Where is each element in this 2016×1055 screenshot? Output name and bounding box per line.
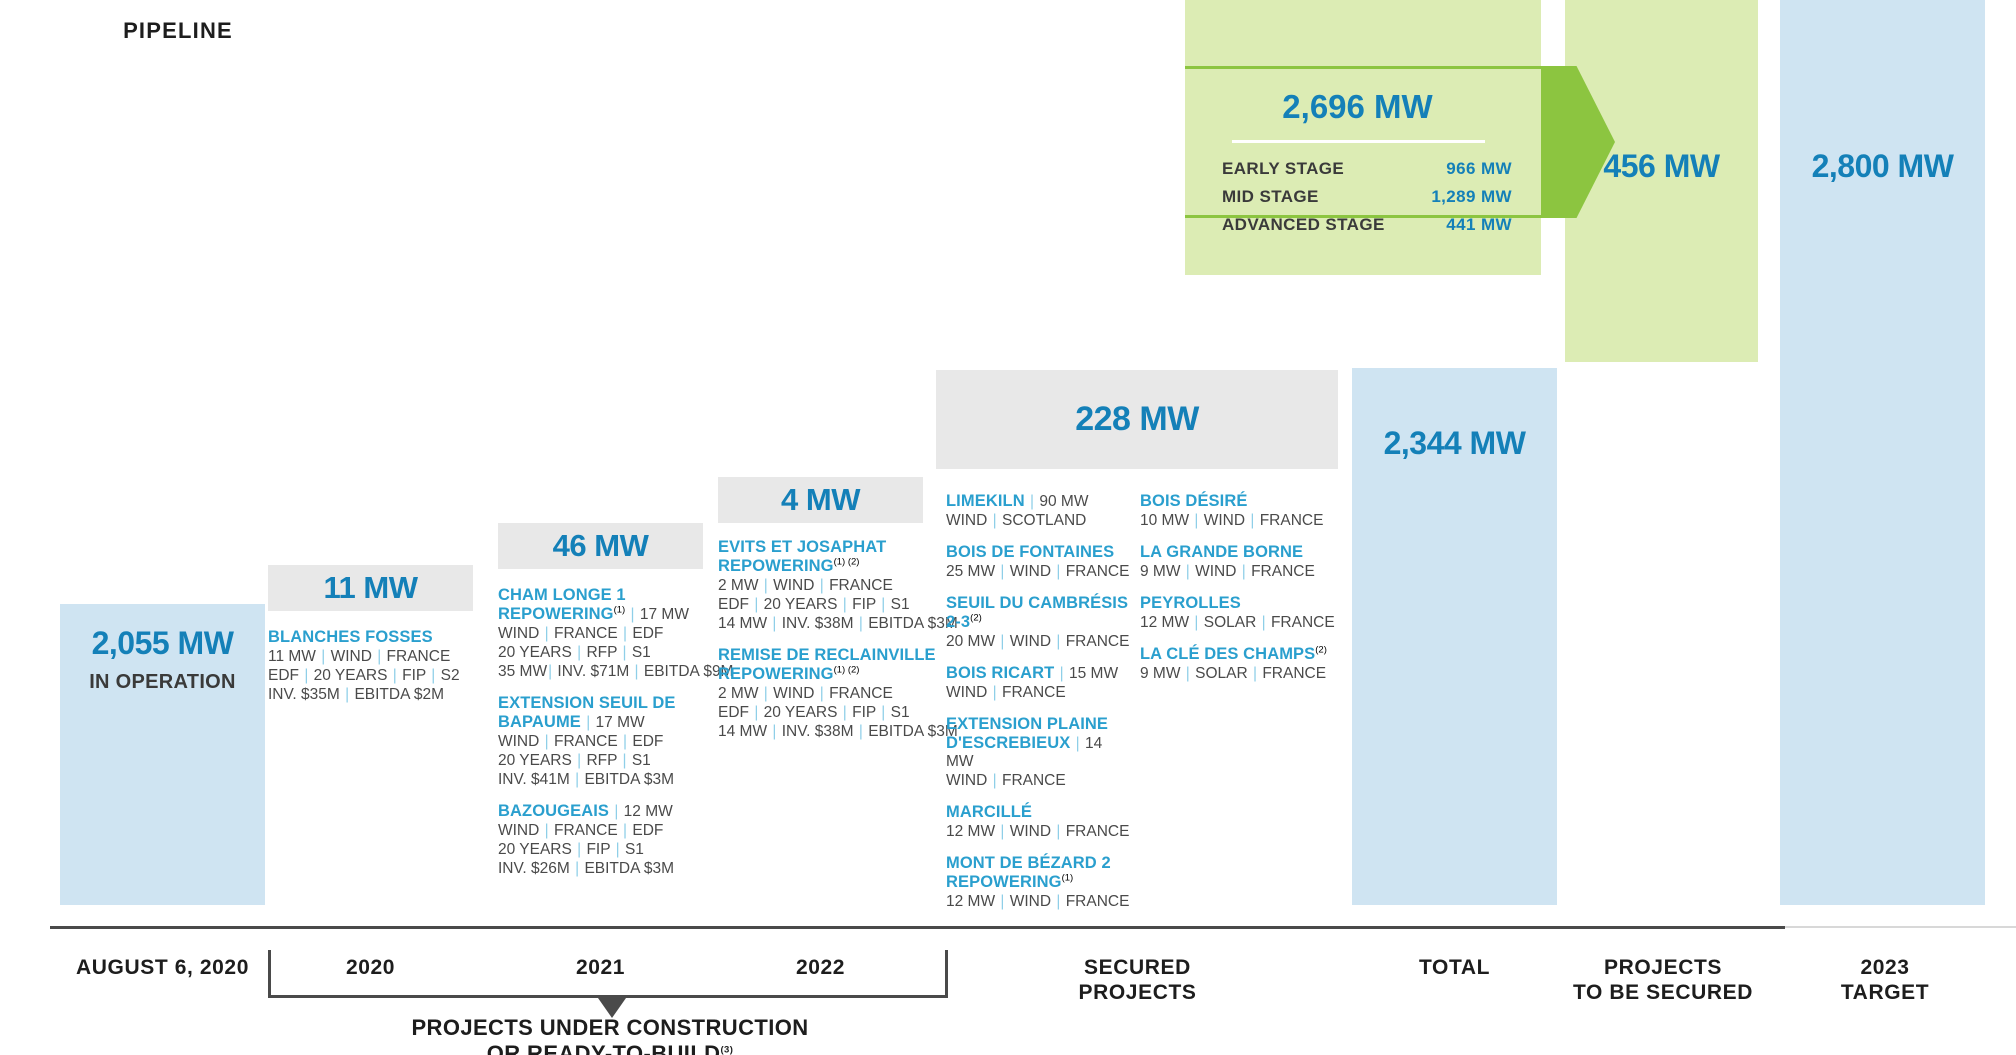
pipeline-label-mid-stage: MID STAGE <box>1222 187 1319 207</box>
project-entry: BAZOUGEAIS | 12 MWWIND | FRANCE | EDF20 … <box>498 802 710 878</box>
project-detail-line: 12 MW | WIND | FRANCE <box>946 822 1131 841</box>
project-name: BLANCHES FOSSES <box>268 628 433 646</box>
project-entry: BOIS RICART | 15 MWWIND | FRANCE <box>946 664 1131 702</box>
project-entry: MARCILLÉ12 MW | WIND | FRANCE <box>946 803 1131 841</box>
project-name: MARCILLÉ <box>946 803 1032 821</box>
project-title: PEYROLLES <box>1140 594 1335 613</box>
project-capacity: | 90 MW <box>1025 493 1089 510</box>
project-title: LA CLÉ DES CHAMPS(2) <box>1140 645 1335 664</box>
axis-label-target-line2: TARGET <box>1841 981 1929 1004</box>
project-title: MONT DE BÉZARD 2 REPOWERING(1) <box>946 854 1131 892</box>
project-capacity: | 15 MW <box>1054 665 1118 682</box>
pipeline-value-early-stage: 966 MW <box>1446 159 1512 179</box>
project-detail-line: WIND | FRANCE <box>946 771 1131 790</box>
project-detail-line: 9 MW | SOLAR | FRANCE <box>1140 664 1335 683</box>
project-entry: LIMEKILN | 90 MWWIND | SCOTLAND <box>946 492 1131 530</box>
pipeline-row-advanced-stage: ADVANCED STAGE 441 MW <box>1222 215 1512 235</box>
project-title: BLANCHES FOSSES <box>268 628 468 647</box>
caption-in-operation: IN OPERATION <box>60 671 265 694</box>
project-name: PEYROLLES <box>1140 594 1241 612</box>
project-detail-line: WIND | FRANCE | EDF <box>498 732 710 751</box>
project-detail-line: WIND | FRANCE | EDF <box>498 821 710 840</box>
project-entry: CHAM LONGE 1 REPOWERING(1) | 17 MWWIND |… <box>498 586 710 681</box>
project-detail-line: 2 MW | WIND | FRANCE <box>718 576 943 595</box>
project-list-2021: CHAM LONGE 1 REPOWERING(1) | 17 MWWIND |… <box>498 586 710 891</box>
pipeline-row-early-stage: EARLY STAGE 966 MW <box>1222 159 1512 179</box>
project-title: EVITS ET JOSAPHAT REPOWERING(1) (2) <box>718 538 943 576</box>
project-title: MARCILLÉ <box>946 803 1131 822</box>
value-secured: 228 MW <box>1075 400 1199 439</box>
project-entry: LA GRANDE BORNE9 MW | WIND | FRANCE <box>1140 543 1335 581</box>
project-title: REMISE DE RECLAINVILLE REPOWERING(1) (2) <box>718 646 943 684</box>
project-title: BAZOUGEAIS | 12 MW <box>498 802 710 821</box>
project-capacity: | 17 MW <box>625 606 689 623</box>
puc-footnote: (3) <box>720 1045 733 1055</box>
project-name: MONT DE BÉZARD 2 REPOWERING <box>946 854 1111 891</box>
project-detail-line: INV. $41M | EBITDA $3M <box>498 770 710 789</box>
axis-label-tbs-line2: TO BE SECURED <box>1573 981 1753 1004</box>
project-entry: SEUIL DU CAMBRÉSIS 2-3(2)20 MW | WIND | … <box>946 594 1131 651</box>
project-title: LA GRANDE BORNE <box>1140 543 1335 562</box>
project-list-2022: EVITS ET JOSAPHAT REPOWERING(1) (2)2 MW … <box>718 538 943 754</box>
projects-under-construction-label: PROJECTS UNDER CONSTRUCTION OR READY-TO-… <box>330 1015 890 1055</box>
axis-label-secured-line1: SECURED <box>1084 956 1191 979</box>
project-detail-line: 20 YEARS | RFP | S1 <box>498 751 710 770</box>
project-detail-line: EDF | 20 YEARS | FIP | S2 <box>268 666 468 685</box>
project-entry: LA CLÉ DES CHAMPS(2)9 MW | SOLAR | FRANC… <box>1140 645 1335 683</box>
axis-label-tbs-line1: PROJECTS <box>1604 956 1722 979</box>
project-name: BOIS RICART <box>946 664 1054 682</box>
project-name: LIMEKILN <box>946 492 1025 510</box>
project-detail-line: 9 MW | WIND | FRANCE <box>1140 562 1335 581</box>
in-operation-block: 2,055 MW IN OPERATION <box>60 625 265 694</box>
project-title: BOIS DÉSIRÉ <box>1140 492 1335 511</box>
project-footnote: (1) (2) <box>834 557 860 568</box>
project-footnote: (1) <box>1062 873 1074 884</box>
pipeline-value-mid-stage: 1,289 MW <box>1431 187 1512 207</box>
pipeline-label-advanced-stage: ADVANCED STAGE <box>1222 215 1385 235</box>
project-name: CHAM LONGE 1 REPOWERING <box>498 586 626 623</box>
project-detail-line: INV. $35M | EBITDA $2M <box>268 685 468 704</box>
project-name: EVITS ET JOSAPHAT REPOWERING <box>718 538 886 575</box>
pipeline-value-advanced-stage: 441 MW <box>1446 215 1512 235</box>
project-title: LIMEKILN | 90 MW <box>946 492 1131 511</box>
puc-line2: OR READY-TO-BUILD <box>487 1041 721 1055</box>
project-detail-line: EDF | 20 YEARS | FIP | S1 <box>718 703 943 722</box>
project-name: LA CLÉ DES CHAMPS <box>1140 645 1315 663</box>
project-footnote: (1) (2) <box>834 665 860 676</box>
project-title: CHAM LONGE 1 REPOWERING(1) | 17 MW <box>498 586 710 624</box>
project-detail-line: WIND | FRANCE | EDF <box>498 624 710 643</box>
project-detail-line: INV. $26M | EBITDA $3M <box>498 859 710 878</box>
project-detail-line: 20 MW | WIND | FRANCE <box>946 632 1131 651</box>
project-detail-line: 10 MW | WIND | FRANCE <box>1140 511 1335 530</box>
project-list-2020: BLANCHES FOSSES11 MW | WIND | FRANCEEDF … <box>268 628 468 717</box>
header-box-2021: 46 MW <box>498 523 703 569</box>
project-detail-line: 14 MW | INV. $38M | EBITDA $3M <box>718 614 943 633</box>
project-detail-line: 2 MW | WIND | FRANCE <box>718 684 943 703</box>
bar-2023-target <box>1780 0 1985 905</box>
project-detail-line: 20 YEARS | RFP | S1 <box>498 643 710 662</box>
axis-label-2023-target: 2023 TARGET <box>1790 955 1980 1005</box>
axis-label-secured-line2: PROJECTS <box>1079 981 1197 1004</box>
pipeline-total-value: 2,696 MW <box>1185 88 1530 126</box>
axis-label-august-2020: AUGUST 6, 2020 <box>40 955 285 980</box>
pipeline-label-early-stage: EARLY STAGE <box>1222 159 1344 179</box>
pipeline-row-mid-stage: MID STAGE 1,289 MW <box>1222 187 1512 207</box>
project-name: BAZOUGEAIS <box>498 802 609 820</box>
axis-baseline <box>50 926 1785 929</box>
project-name: BOIS DE FONTAINES <box>946 543 1114 561</box>
project-title: EXTENSION PLAINE D'ESCREBIEUX | 14 MW <box>946 715 1131 771</box>
project-footnote: (2) <box>1315 645 1327 656</box>
header-box-2022: 4 MW <box>718 477 923 523</box>
project-footnote: (1) <box>614 605 626 616</box>
project-list-secured-left: LIMEKILN | 90 MWWIND | SCOTLANDBOIS DE F… <box>946 492 1131 924</box>
value-2023-target: 2,800 MW <box>1780 148 1985 185</box>
project-entry: MONT DE BÉZARD 2 REPOWERING(1)12 MW | WI… <box>946 854 1131 911</box>
value-2021: 46 MW <box>553 528 649 564</box>
value-2022: 4 MW <box>781 482 860 518</box>
header-box-secured: 228 MW <box>936 370 1338 469</box>
project-detail-line: WIND | SCOTLAND <box>946 511 1131 530</box>
project-capacity: | 17 MW <box>581 714 645 731</box>
pipeline-divider <box>1232 140 1485 143</box>
axis-baseline-light <box>1785 926 2016 928</box>
project-detail-line: 12 MW | WIND | FRANCE <box>946 892 1131 911</box>
value-in-operation: 2,055 MW <box>60 625 265 662</box>
project-entry: BOIS DE FONTAINES25 MW | WIND | FRANCE <box>946 543 1131 581</box>
value-total: 2,344 MW <box>1352 425 1557 462</box>
project-title: SEUIL DU CAMBRÉSIS 2-3(2) <box>946 594 1131 632</box>
puc-line1: PROJECTS UNDER CONSTRUCTION <box>411 1015 808 1040</box>
project-entry: BOIS DÉSIRÉ10 MW | WIND | FRANCE <box>1140 492 1335 530</box>
project-name: REMISE DE RECLAINVILLE REPOWERING <box>718 646 936 683</box>
axis-label-target-line1: 2023 <box>1860 956 1909 979</box>
project-capacity: | 12 MW <box>609 803 673 820</box>
construction-bracket <box>268 950 948 998</box>
project-entry: REMISE DE RECLAINVILLE REPOWERING(1) (2)… <box>718 646 943 741</box>
project-list-secured-right: BOIS DÉSIRÉ10 MW | WIND | FRANCELA GRAND… <box>1140 492 1335 696</box>
project-entry: EXTENSION PLAINE D'ESCREBIEUX | 14 MWWIN… <box>946 715 1131 790</box>
infographic-canvas: 11 MW 46 MW 4 MW 228 MW 2,055 MW IN OPER… <box>0 0 2016 1055</box>
project-name: LA GRANDE BORNE <box>1140 543 1303 561</box>
project-entry: PEYROLLES12 MW | SOLAR | FRANCE <box>1140 594 1335 632</box>
project-detail-line: 25 MW | WIND | FRANCE <box>946 562 1131 581</box>
project-entry: EVITS ET JOSAPHAT REPOWERING(1) (2)2 MW … <box>718 538 943 633</box>
project-detail-line: 20 YEARS | FIP | S1 <box>498 840 710 859</box>
project-entry: EXTENSION SEUIL DE BAPAUME | 17 MWWIND |… <box>498 694 710 789</box>
axis-label-total: TOTAL <box>1352 955 1557 980</box>
axis-label-projects-to-be-secured: PROJECTS TO BE SECURED <box>1548 955 1778 1005</box>
value-2020: 11 MW <box>324 570 418 606</box>
project-detail-line: 35 MW| INV. $71M | EBITDA $9M <box>498 662 710 681</box>
project-title: BOIS RICART | 15 MW <box>946 664 1131 683</box>
pipeline-title: PIPELINE <box>0 18 356 44</box>
header-box-2020: 11 MW <box>268 565 473 611</box>
project-detail-line: 11 MW | WIND | FRANCE <box>268 647 468 666</box>
project-detail-line: 12 MW | SOLAR | FRANCE <box>1140 613 1335 632</box>
project-detail-line: 14 MW | INV. $38M | EBITDA $3M <box>718 722 943 741</box>
project-title: EXTENSION SEUIL DE BAPAUME | 17 MW <box>498 694 710 732</box>
axis-label-secured-projects: SECURED PROJECTS <box>1000 955 1275 1005</box>
project-detail-line: EDF | 20 YEARS | FIP | S1 <box>718 595 943 614</box>
project-name: BOIS DÉSIRÉ <box>1140 492 1247 510</box>
project-entry: BLANCHES FOSSES11 MW | WIND | FRANCEEDF … <box>268 628 468 704</box>
project-detail-line: WIND | FRANCE <box>946 683 1131 702</box>
project-footnote: (2) <box>970 613 982 624</box>
project-title: BOIS DE FONTAINES <box>946 543 1131 562</box>
